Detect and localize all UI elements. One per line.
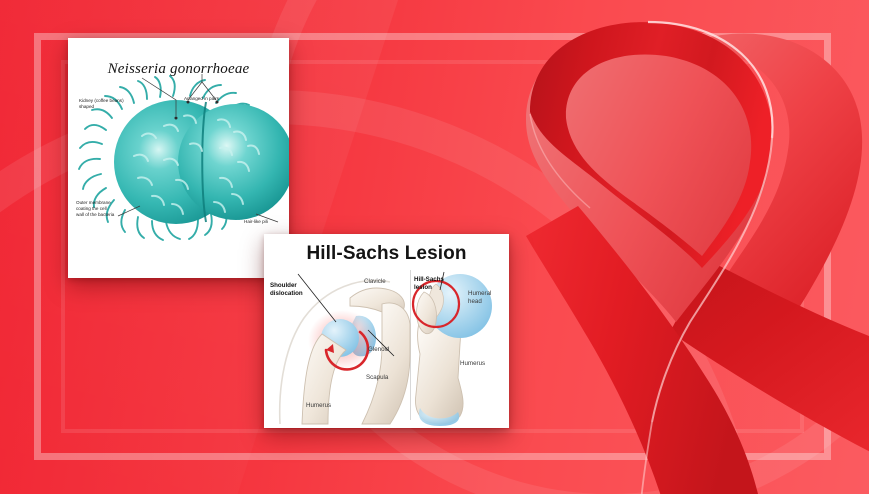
label-humerus-left: Humerus — [306, 402, 331, 410]
shoulder-illustration — [264, 234, 509, 428]
label-kidney-shape: Kidney (coffee beans) shaped — [79, 98, 157, 110]
label-humeral-head: Humeral head — [468, 290, 508, 305]
label-humerus-right: Humerus — [460, 360, 485, 368]
red-awareness-ribbon — [470, 0, 869, 494]
bacteria-illustration — [68, 38, 289, 278]
label-outer-membrane: Outer membrane coating the cell wall of … — [76, 200, 140, 218]
bone-humerus-left — [302, 334, 346, 424]
poster-canvas: Neisseria gonorrhoeae — [0, 0, 869, 494]
card-neisseria-gonorrhoeae[interactable]: Neisseria gonorrhoeae — [68, 38, 289, 278]
ribbon-svg — [470, 0, 869, 494]
label-hair-like-pili: Hair-like pili — [244, 219, 289, 225]
label-scapula: Scapula — [366, 374, 388, 382]
label-clavicle: Clavicle — [364, 278, 386, 286]
label-arranged-in-pairs: Arranged in pairs — [184, 96, 254, 102]
shoulder-svg — [264, 234, 509, 428]
label-glenoid: Glenoid — [368, 346, 389, 354]
label-shoulder-dislocation: Shoulder dislocation — [270, 282, 332, 297]
label-hill-sachs-lesion: Hill-Sachs lesion — [414, 276, 466, 291]
bacteria-svg — [68, 38, 289, 278]
card-hill-sachs-lesion[interactable]: Hill-Sachs Lesion — [264, 234, 509, 428]
